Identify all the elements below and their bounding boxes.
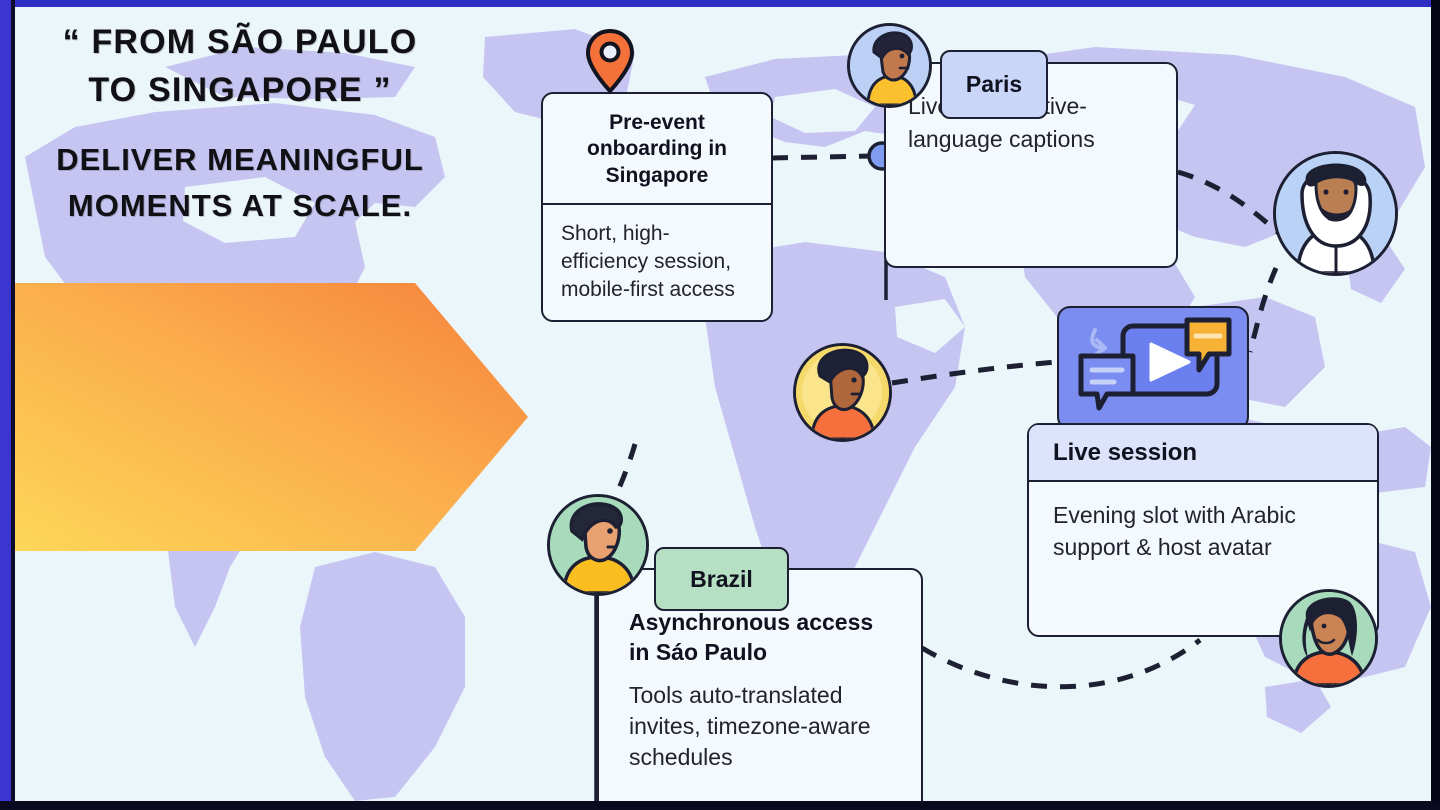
frame-left-inner [11, 0, 15, 810]
frame-right-accent [1431, 0, 1440, 810]
quote-banner [15, 283, 528, 551]
quote-line-2: TO SINGAPORE ” [30, 66, 450, 114]
tag-paris[interactable]: Paris [940, 50, 1048, 119]
quote-banner-text: “ FROM SÃO PAULO TO SINGAPORE ” DELIVER … [30, 18, 450, 228]
card-singapore-title: Pre-event onboarding in Singapore [559, 110, 755, 189]
map-pin-icon [585, 28, 635, 94]
quote-subtitle-1: DELIVER MEANINGFUL [30, 139, 450, 182]
infographic-canvas: Pre-event onboarding in Singapore Short,… [0, 0, 1440, 810]
avatar-paris-participant[interactable] [847, 23, 932, 108]
card-brazil-body: Tools auto-translated invites, timezone-… [599, 668, 921, 774]
frame-top-accent [0, 0, 1440, 7]
card-live-body: Evening slot with Arabic support & host … [1029, 482, 1377, 579]
avatar-brazil-participant[interactable] [547, 494, 649, 596]
card-singapore[interactable]: Pre-event onboarding in Singapore Short,… [541, 92, 773, 322]
quote-subtitle-2: MOMENTS AT SCALE. [30, 185, 450, 228]
tag-brazil[interactable]: Brazil [654, 547, 789, 611]
card-live-header: Live session [1029, 425, 1377, 482]
card-live-title: Live session [1053, 438, 1357, 468]
avatar-host-participant[interactable] [1279, 589, 1378, 688]
card-singapore-header: Pre-event onboarding in Singapore [543, 94, 771, 205]
avatar-gulf-participant[interactable] [1273, 151, 1398, 276]
frame-left-accent [0, 0, 11, 810]
quote-line-1: “ FROM SÃO PAULO [30, 18, 450, 66]
video-play-icon [1057, 306, 1249, 430]
frame-bottom-accent [0, 801, 1440, 810]
card-brazil-title: Asynchronous access in Sáo Paulo [629, 608, 899, 668]
avatar-center-participant[interactable] [793, 343, 892, 442]
card-singapore-body: Short, high-efficiency session, mobile-f… [543, 205, 771, 320]
